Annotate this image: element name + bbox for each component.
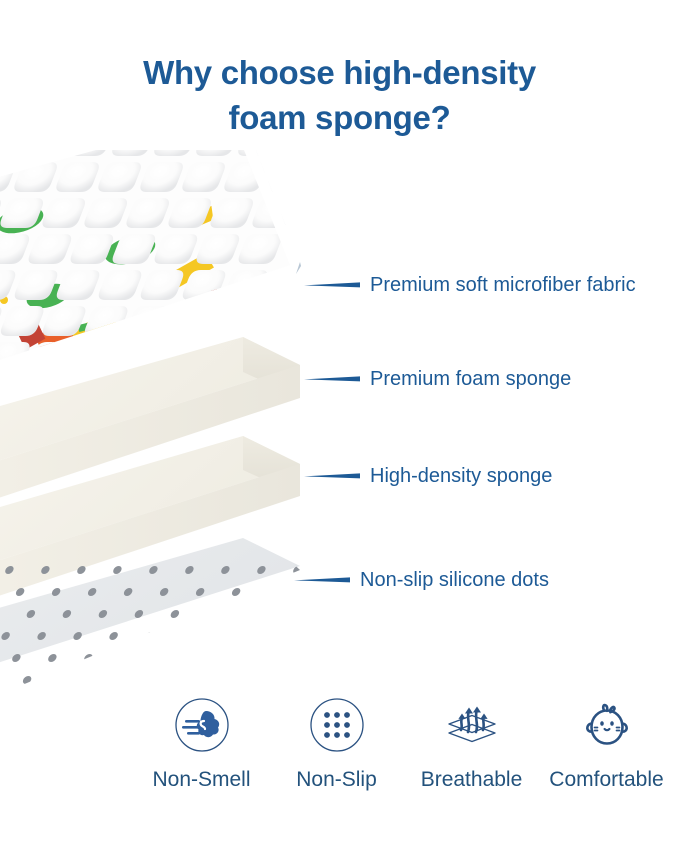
feature-label: Non-Slip [296,767,377,793]
callout-label: Non-slip silicone dots [360,567,549,593]
feature-label: Breathable [421,767,523,793]
leader-line-icon [304,281,360,289]
callout-premium-soft-microfiber-fabric: Premium soft microfiber fabric [304,272,636,298]
leader-line-icon [304,472,360,480]
callout-non-slip-silicone-dots: Non-slip silicone dots [294,567,549,593]
feature-strip: Non-Smell Non-Slip [134,697,674,793]
odor-waft-circle-icon [174,697,230,753]
feature-non-smell: Non-Smell [134,697,269,793]
page-title-line-2: foam sponge? [0,95,679,140]
airflow-layers-icon [444,697,500,753]
feature-non-slip: Non-Slip [269,697,404,793]
callout-label: High-density sponge [370,463,552,489]
leader-line-icon [294,576,350,584]
callout-label: Premium soft microfiber fabric [370,272,636,298]
feature-comfortable: Comfortable [539,697,674,793]
callout-premium-foam-sponge: Premium foam sponge [304,366,571,392]
callout-label: Premium foam sponge [370,366,571,392]
page-title: Why choose high-density foam sponge? [0,50,679,140]
feature-breathable: Breathable [404,697,539,793]
page-title-line-1: Why choose high-density [0,50,679,95]
baby-face-icon [579,697,635,753]
feature-label: Non-Smell [152,767,250,793]
leader-line-icon [304,375,360,383]
dot-grid-circle-icon [309,697,365,753]
callout-high-density-sponge: High-density sponge [304,463,552,489]
feature-label: Comfortable [549,767,663,793]
exploded-mattress-illustration [0,150,360,690]
